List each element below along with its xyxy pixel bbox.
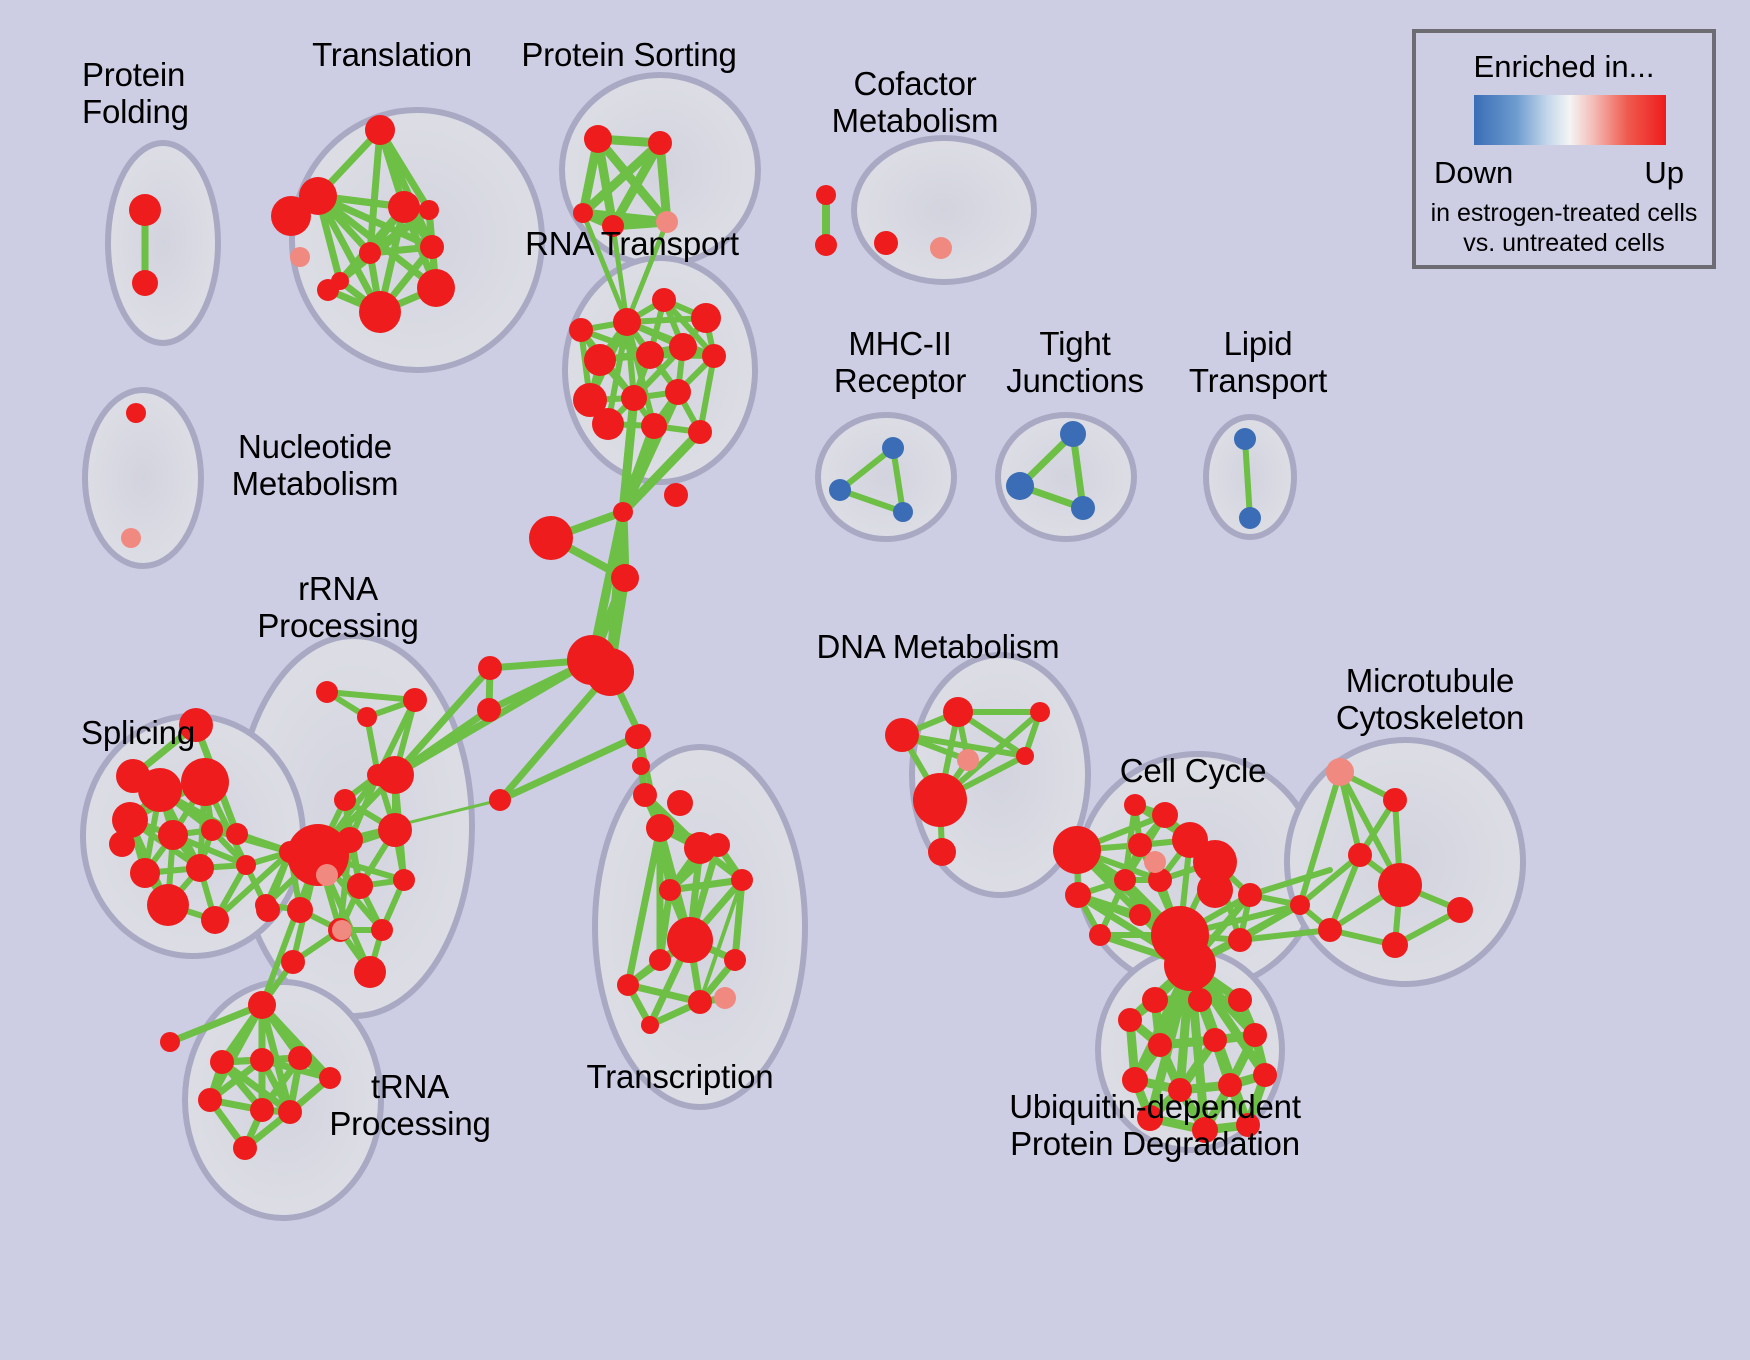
legend-subtitle-line1: in estrogen-treated cells <box>1431 199 1698 227</box>
cluster-label-rrna-processing: rRNA Processing <box>238 570 438 645</box>
cluster-label-cell-cycle: Cell Cycle <box>1103 752 1283 789</box>
cluster-label-cofactor-metabolism: Cofactor Metabolism <box>795 65 1035 140</box>
legend-subtitle: in estrogen-treated cellsvs. untreated c… <box>1416 199 1712 258</box>
cluster-label-microtubule-cytoskeleton: Microtubule Cytoskeleton <box>1305 662 1555 737</box>
cluster-label-trna-processing: tRNA Processing <box>310 1068 510 1143</box>
cluster-label-protein-folding: Protein Folding <box>82 56 272 131</box>
cluster-label-rna-transport: RNA Transport <box>512 225 752 262</box>
enrichment-map-figure: .cl { fill:url(#cg); stroke:#a9a9c4; str… <box>0 0 1750 1360</box>
cluster-label-nucleotide-metabolism: Nucleotide Metabolism <box>195 428 435 503</box>
legend-title: Enriched in... <box>1416 49 1712 85</box>
cluster-label-mhc-ii-receptor: MHC-II Receptor <box>800 325 1000 400</box>
legend-up-label: Up <box>1644 155 1684 191</box>
cluster-label-ubiquitin-protein-degradation: Ubiquitin-dependent Protein Degradation <box>990 1088 1320 1163</box>
cluster-label-tight-junctions: Tight Junctions <box>980 325 1170 400</box>
cluster-label-dna-metabolism: DNA Metabolism <box>808 628 1068 665</box>
cluster-label-transcription: Transcription <box>570 1058 790 1095</box>
legend-panel: Enriched in... Down Up in estrogen-treat… <box>1412 29 1716 269</box>
cluster-label-protein-sorting: Protein Sorting <box>505 36 753 73</box>
cluster-label-lipid-transport: Lipid Transport <box>1163 325 1353 400</box>
legend-subtitle-line2: vs. untreated cells <box>1463 229 1665 257</box>
legend-down-label: Down <box>1434 155 1513 191</box>
cluster-label-splicing: Splicing <box>58 714 218 751</box>
cluster-label-translation: Translation <box>292 36 492 73</box>
legend-colorbar <box>1474 95 1666 145</box>
